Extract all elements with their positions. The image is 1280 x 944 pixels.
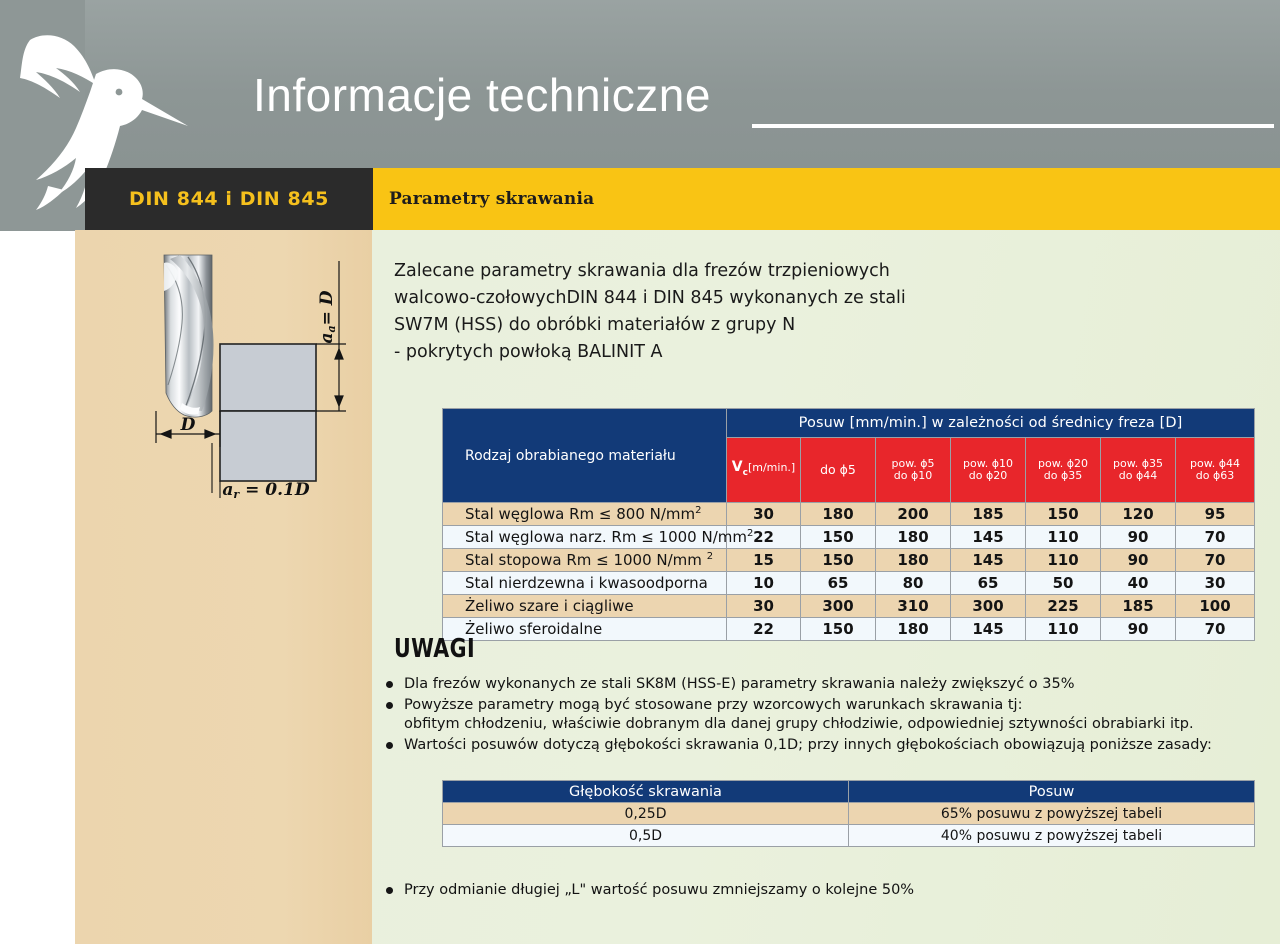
cell-vc: 10: [727, 572, 801, 595]
table-row: Stal stopowa Rm ≤ 1000 N/mm 2 15 150 180…: [443, 549, 1255, 572]
table-row: Żeliwo szare i ciągliwe 30 300 310 300 2…: [443, 595, 1255, 618]
table-header-row-span: Rodzaj obrabianego materiału Posuw [mm/m…: [443, 409, 1255, 438]
cell-10-20: 145: [951, 618, 1026, 641]
col-line2: do ɸ35: [1044, 469, 1082, 482]
cell-44-63: 70: [1176, 526, 1255, 549]
table-row: Stal nierdzewna i kwasoodporna 10 65 80 …: [443, 572, 1255, 595]
cell-10-20: 145: [951, 549, 1026, 572]
table-row: 0,5D 40% posuwu z powyższej tabeli: [443, 825, 1255, 847]
notes-heading: UWAGI: [394, 634, 475, 664]
table-row: Żeliwo sferoidalne 22 150 180 145 110 90…: [443, 618, 1255, 641]
page-root: Informacje techniczne DIN 844 i DIN 845 …: [0, 0, 1280, 944]
note-text: Powyższe parametry mogą być stosowane pr…: [404, 697, 1022, 713]
cell-10-20: 65: [951, 572, 1026, 595]
cell-5-10: 80: [876, 572, 951, 595]
cell-5-10: 180: [876, 549, 951, 572]
cell-do5: 150: [801, 526, 876, 549]
col-line2: do ɸ63: [1196, 469, 1234, 482]
material-name: Żeliwo szare i ciągliwe: [443, 595, 727, 618]
cell-10-20: 300: [951, 595, 1026, 618]
cell-do5: 65: [801, 572, 876, 595]
page-title: Informacje techniczne: [253, 72, 711, 118]
cell-35-44: 90: [1101, 618, 1176, 641]
column-header-5-10: pow. ɸ5 do ɸ10: [876, 438, 951, 503]
cell-10-20: 185: [951, 503, 1026, 526]
cell-vc: 30: [727, 595, 801, 618]
note-text: Przy odmianie długiej „L" wartość posuwu…: [404, 882, 914, 898]
column-header-35-44: pow. ɸ35 do ɸ44: [1101, 438, 1176, 503]
cell-44-63: 30: [1176, 572, 1255, 595]
cell-20-35: 50: [1026, 572, 1101, 595]
cutting-parameters-table: Rodzaj obrabianego materiału Posuw [mm/m…: [442, 408, 1255, 641]
material-name: Stal węglowa Rm ≤ 800 N/mm2: [443, 503, 727, 526]
cell-5-10: 310: [876, 595, 951, 618]
feed-column-header: Posuw: [849, 781, 1255, 803]
cell-vc: 30: [727, 503, 801, 526]
cell-do5: 150: [801, 618, 876, 641]
cell-35-44: 185: [1101, 595, 1176, 618]
material-name: Żeliwo sferoidalne: [443, 618, 727, 641]
cell-vc: 15: [727, 549, 801, 572]
depth-table-header-row: Głębokość skrawania Posuw: [443, 781, 1255, 803]
radial-depth-dimension: [212, 443, 220, 498]
bullet-icon: [386, 742, 393, 749]
cell-35-44: 120: [1101, 503, 1176, 526]
material-name: Stal węglowa narz. Rm ≤ 1000 N/mm2: [443, 526, 727, 549]
bullet-icon: [386, 681, 393, 688]
note-text: Dla frezów wykonanych ze stali SK8M (HSS…: [404, 676, 1075, 692]
table-row: Stal węglowa narz. Rm ≤ 1000 N/mm2 22 15…: [443, 526, 1255, 549]
note-text: Wartości posuwów dotyczą głębokości skra…: [404, 737, 1212, 753]
cell-20-35: 110: [1026, 526, 1101, 549]
note-item: Dla frezów wykonanych ze stali SK8M (HSS…: [378, 675, 1268, 695]
axial-depth-label: aa= D: [317, 290, 338, 343]
diameter-label: D: [180, 415, 196, 435]
cell-44-63: 70: [1176, 618, 1255, 641]
din-standard-label: DIN 844 i DIN 845: [85, 168, 373, 230]
material-name: Stal nierdzewna i kwasoodporna: [443, 572, 727, 595]
cell-10-20: 145: [951, 526, 1026, 549]
depth-value: 0,5D: [443, 825, 849, 847]
column-header-44-63: pow. ɸ44 do ɸ63: [1176, 438, 1255, 503]
cell-44-63: 100: [1176, 595, 1255, 618]
column-header-10-20: pow. ɸ10 do ɸ20: [951, 438, 1026, 503]
cell-20-35: 150: [1026, 503, 1101, 526]
cell-35-44: 90: [1101, 549, 1176, 572]
table-row: 0,25D 65% posuwu z powyższej tabeli: [443, 803, 1255, 825]
column-header-20-35: pow. ɸ20 do ɸ35: [1026, 438, 1101, 503]
material-column-header: Rodzaj obrabianego materiału: [443, 409, 727, 503]
cell-20-35: 225: [1026, 595, 1101, 618]
col-line1: do ɸ5: [820, 462, 856, 477]
cell-do5: 180: [801, 503, 876, 526]
cell-35-44: 40: [1101, 572, 1176, 595]
left-white-margin: [0, 231, 75, 944]
cell-5-10: 180: [876, 526, 951, 549]
cell-44-63: 70: [1176, 549, 1255, 572]
table-row: Stal węglowa Rm ≤ 800 N/mm2 30 180 200 1…: [443, 503, 1255, 526]
section-title: Parametry skrawania: [389, 168, 594, 230]
cell-5-10: 180: [876, 618, 951, 641]
cell-do5: 300: [801, 595, 876, 618]
end-mill-tool: [164, 255, 214, 417]
col-line2: do ɸ10: [894, 469, 932, 482]
intro-line-2: walcowo-czołowychDIN 844 i DIN 845 wykon…: [394, 285, 994, 312]
intro-line-3: SW7M (HSS) do obróbki materiałów z grupy…: [394, 312, 994, 339]
note-item-final: Przy odmianie długiej „L" wartość posuwu…: [378, 881, 1280, 901]
note-continuation: obfitym chłodzeniu, właściwie dobranym d…: [404, 715, 1268, 735]
column-header-vc: Vc[m/min.]: [727, 438, 801, 503]
cell-vc: 22: [727, 618, 801, 641]
cell-35-44: 90: [1101, 526, 1176, 549]
cell-5-10: 200: [876, 503, 951, 526]
depth-feed-table: Głębokość skrawania Posuw 0,25D 65% posu…: [442, 780, 1255, 847]
col-line2: do ɸ20: [969, 469, 1007, 482]
title-underline-rule: [752, 124, 1274, 128]
intro-line-4: - pokrytych powłoką BALINIT A: [394, 339, 994, 366]
cell-do5: 150: [801, 549, 876, 572]
workpiece-blocks: [220, 344, 316, 481]
depth-value: 0,25D: [443, 803, 849, 825]
bullet-icon: [386, 887, 393, 894]
cell-20-35: 110: [1026, 618, 1101, 641]
feed-value: 65% posuwu z powyższej tabeli: [849, 803, 1255, 825]
depth-column-header: Głębokość skrawania: [443, 781, 849, 803]
feed-span-header: Posuw [mm/min.] w zależności od średnicy…: [727, 409, 1255, 438]
note-item: Wartości posuwów dotyczą głębokości skra…: [378, 736, 1268, 756]
bullet-icon: [386, 702, 393, 709]
feed-value: 40% posuwu z powyższej tabeli: [849, 825, 1255, 847]
cell-44-63: 95: [1176, 503, 1255, 526]
radial-depth-label: ar = 0.1D: [222, 480, 309, 501]
note-item: Powyższe parametry mogą być stosowane pr…: [378, 696, 1268, 735]
end-mill-cutting-diagram: aa= D D ar = 0.1D: [132, 243, 380, 503]
material-name: Stal stopowa Rm ≤ 1000 N/mm 2: [443, 549, 727, 572]
intro-paragraph: Zalecane parametry skrawania dla frezów …: [394, 258, 994, 366]
col-line2: do ɸ44: [1119, 469, 1157, 482]
cell-20-35: 110: [1026, 549, 1101, 572]
notes-list: Dla frezów wykonanych ze stali SK8M (HSS…: [378, 675, 1268, 756]
column-header-do-5: do ɸ5: [801, 438, 876, 503]
intro-line-1: Zalecane parametry skrawania dla frezów …: [394, 258, 994, 285]
